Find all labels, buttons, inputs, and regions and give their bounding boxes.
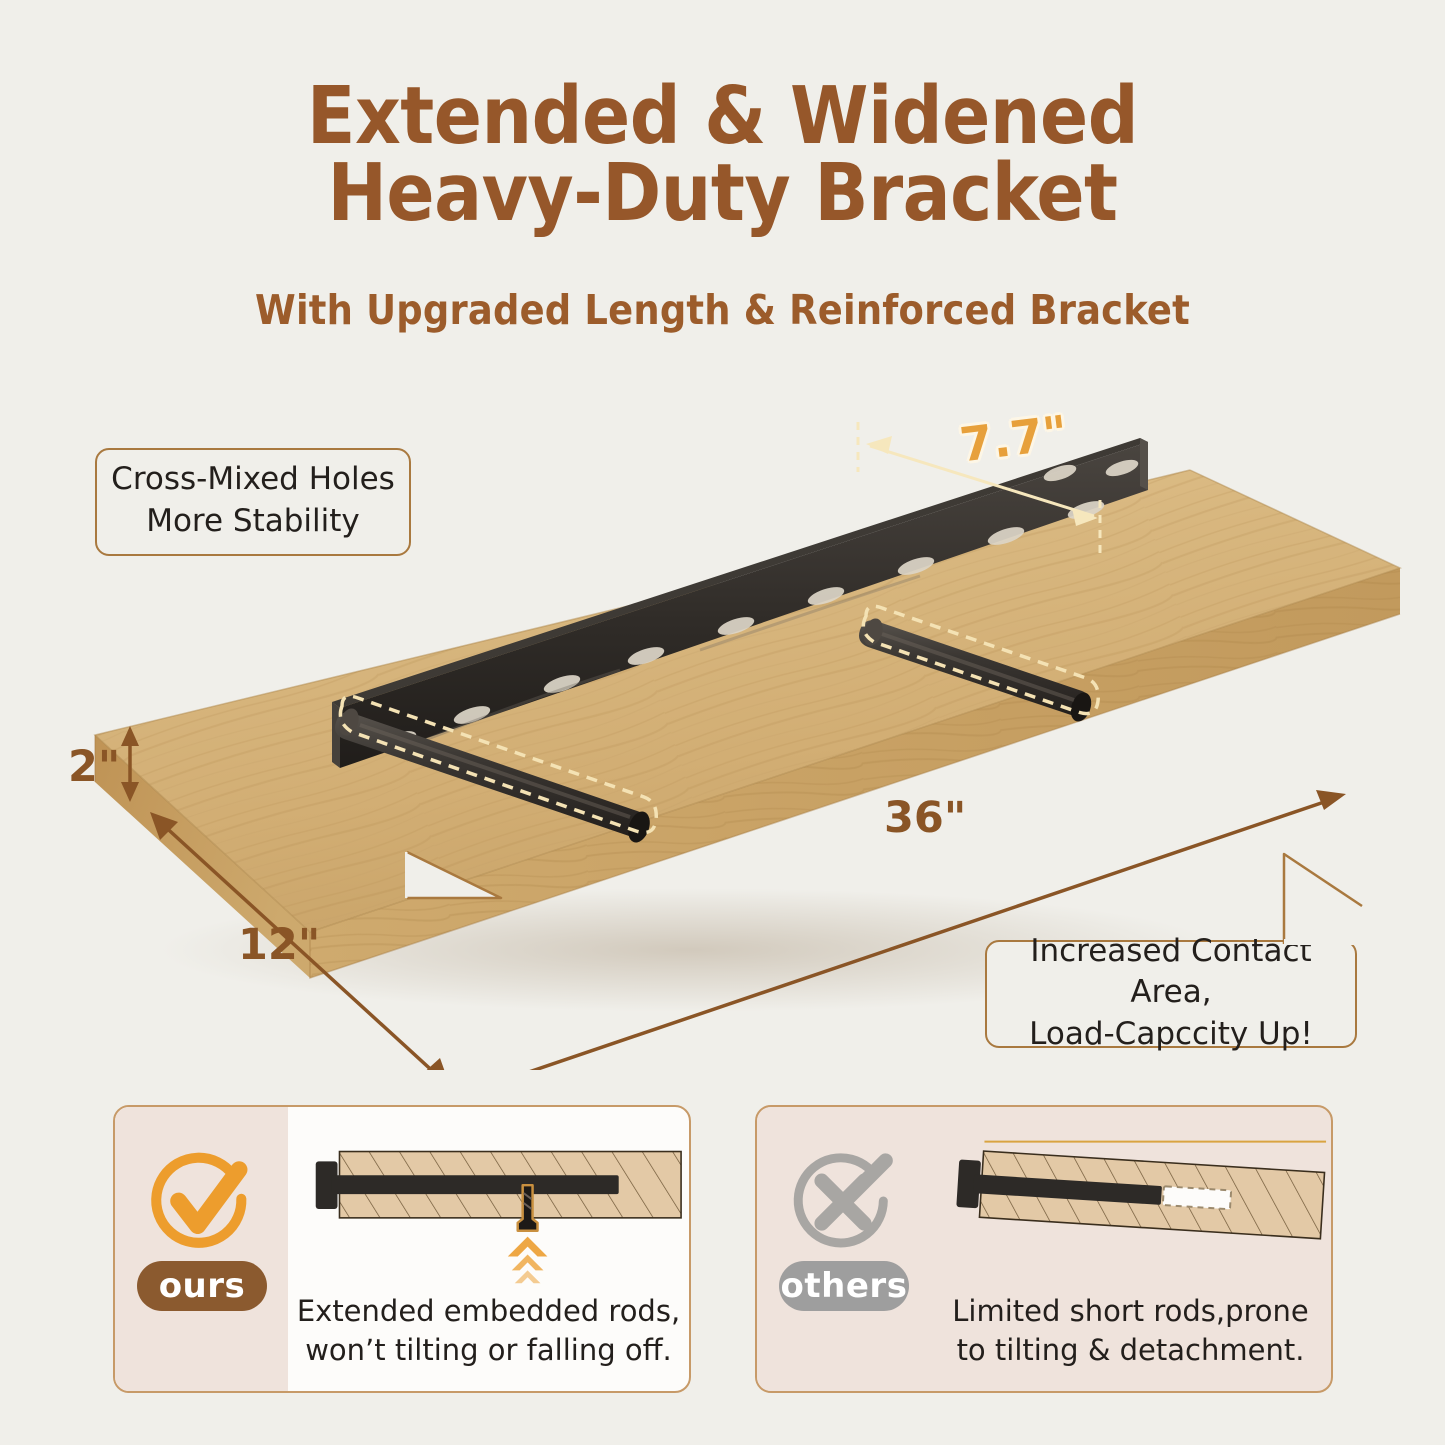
- upward-arrows-icon: [508, 1237, 548, 1284]
- card-others-caption: Limited short rods,prone to tilting & de…: [930, 1292, 1331, 1369]
- card-others-sidebar: others: [757, 1107, 930, 1391]
- dimension-label-length: 36": [884, 793, 966, 843]
- bubble-left-tail: [405, 840, 525, 920]
- infographic-root: Extended & Widened Heavy-Duty Bracket Wi…: [0, 0, 1445, 1445]
- comparison-card-others: others: [755, 1105, 1333, 1393]
- comparison-card-ours: ours: [113, 1105, 691, 1393]
- callout-cross-mixed-holes: Cross-Mixed Holes More Stability: [95, 448, 411, 556]
- check-circle-icon: [145, 1145, 257, 1257]
- callout-increased-contact-area: Increased Contact Area, Load-Capccity Up…: [985, 940, 1357, 1048]
- embedded-rod-long: [332, 1175, 619, 1194]
- badge-others: others: [779, 1261, 909, 1311]
- page-subtitle: With Upgraded Length & Reinforced Bracke…: [0, 286, 1445, 334]
- page-title: Extended & Widened Heavy-Duty Bracket: [0, 78, 1445, 233]
- badge-ours: ours: [137, 1261, 267, 1311]
- card-ours-sidebar: ours: [115, 1107, 288, 1391]
- card-ours-caption: Extended embedded rods, won’t tilting or…: [288, 1292, 689, 1369]
- diagram-ours-long-rod: [288, 1119, 689, 1289]
- card-ours-body: Extended embedded rods, won’t tilting or…: [288, 1107, 689, 1391]
- bubble-right-tail: [1238, 848, 1368, 948]
- diagram-others-short-rod: [930, 1119, 1331, 1289]
- card-others-body: Limited short rods,prone to tilting & de…: [930, 1107, 1331, 1391]
- x-circle-icon: [787, 1145, 899, 1257]
- dimension-label-depth: 12": [238, 920, 320, 970]
- dimension-label-thickness: 2": [68, 742, 120, 792]
